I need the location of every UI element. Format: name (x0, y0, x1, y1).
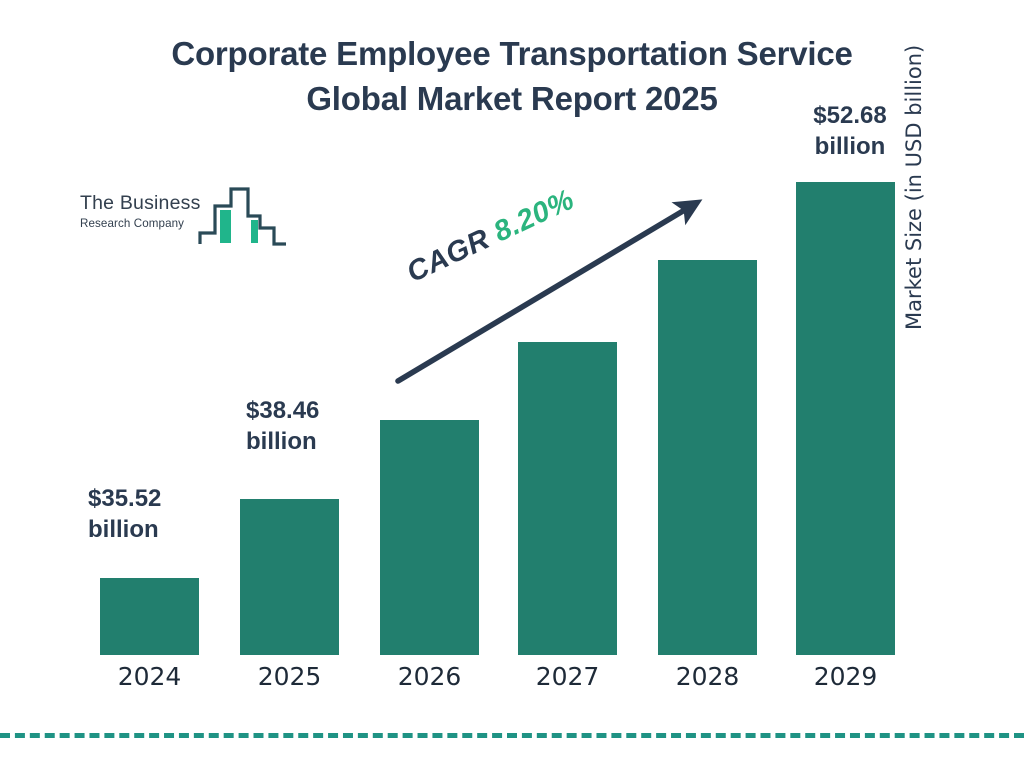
value-callout-2029: $52.68 billion (800, 101, 900, 162)
bar-2026 (380, 420, 479, 655)
bar-2027 (518, 342, 617, 655)
x-axis-tick-2029: 2029 (796, 662, 895, 691)
footer-divider (0, 733, 1024, 738)
value-callout-2024: $35.52 billion (88, 484, 161, 545)
bar-2028 (658, 260, 757, 655)
x-axis-tick-2025: 2025 (240, 662, 339, 691)
y-axis-title: Market Size (in USD billion) (902, 0, 926, 330)
chart-canvas: Corporate Employee Transportation Servic… (0, 0, 1024, 768)
bar-2029 (796, 182, 895, 655)
x-axis-tick-2028: 2028 (658, 662, 757, 691)
value-callout-2025: $38.46 billion (246, 396, 319, 457)
bar-2024 (100, 578, 199, 655)
x-axis-tick-2024: 2024 (100, 662, 199, 691)
x-axis-tick-2027: 2027 (518, 662, 617, 691)
x-axis-tick-2026: 2026 (380, 662, 479, 691)
bar-2025 (240, 499, 339, 655)
